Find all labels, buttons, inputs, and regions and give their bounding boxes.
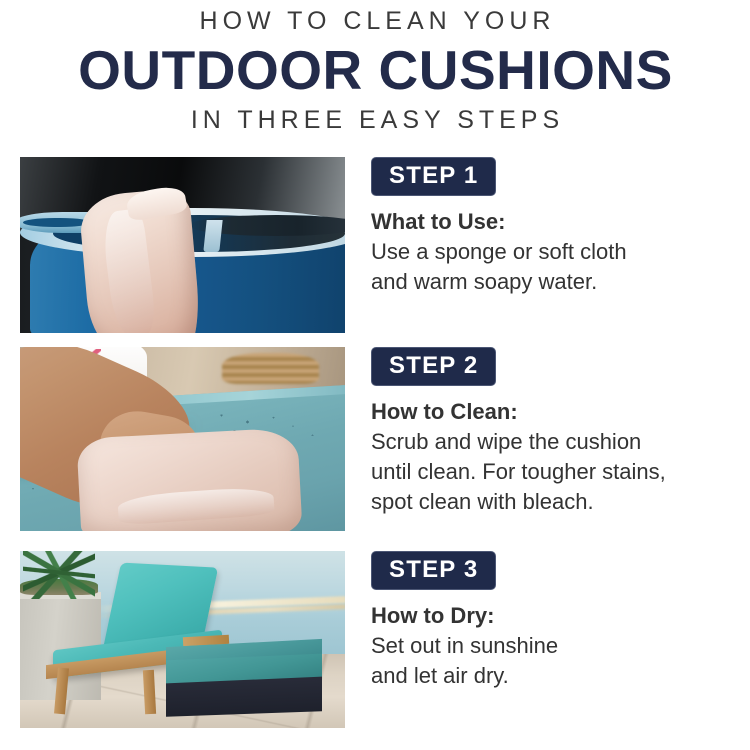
step-1-badge: STEP 1 [371, 157, 496, 196]
step-3-badge: STEP 3 [371, 551, 496, 590]
step-row-3: STEP 3 How to Dry: Set out in sunshine a… [0, 551, 750, 728]
agave-plant [23, 551, 95, 599]
step-row-2: STEP 2 How to Clean: Scrub and wipe the … [0, 347, 750, 531]
step-2-body-line-2: until clean. For tougher stains, [371, 457, 741, 486]
step-2-photo [20, 347, 345, 531]
page-title: OUTDOOR CUSHIONS [0, 40, 750, 100]
step-row-1: STEP 1 What to Use: Use a sponge or soft… [0, 157, 750, 333]
step-2-body-line-3: spot clean with bleach. [371, 487, 741, 516]
step-2-body-line-1: Scrub and wipe the cushion [371, 427, 741, 456]
step-1-text-column: STEP 1 What to Use: Use a sponge or soft… [371, 157, 741, 296]
header-kicker: HOW TO CLEAN YOUR [0, 6, 750, 36]
step-1-heading: What to Use: [371, 208, 741, 236]
header-subtitle: IN THREE EASY STEPS [0, 105, 750, 135]
step-1-body-line-1: Use a sponge or soft cloth [371, 237, 741, 266]
step-3-text-column: STEP 3 How to Dry: Set out in sunshine a… [371, 551, 741, 690]
step-3-heading: How to Dry: [371, 602, 741, 630]
infographic-header: HOW TO CLEAN YOUR OUTDOOR CUSHIONS IN TH… [0, 0, 750, 135]
step-3-body-line-2: and let air dry. [371, 661, 741, 690]
chaise-leg-rear [142, 669, 156, 714]
step-1-photo [20, 157, 345, 333]
step-2-badge: STEP 2 [371, 347, 496, 386]
step-3-body-line-1: Set out in sunshine [371, 631, 741, 660]
step-3-photo [20, 551, 345, 728]
step-1-body-line-2: and warm soapy water. [371, 267, 741, 296]
step-2-heading: How to Clean: [371, 398, 741, 426]
step-2-text-column: STEP 2 How to Clean: Scrub and wipe the … [371, 347, 741, 516]
background-cushion-stack [222, 353, 320, 384]
